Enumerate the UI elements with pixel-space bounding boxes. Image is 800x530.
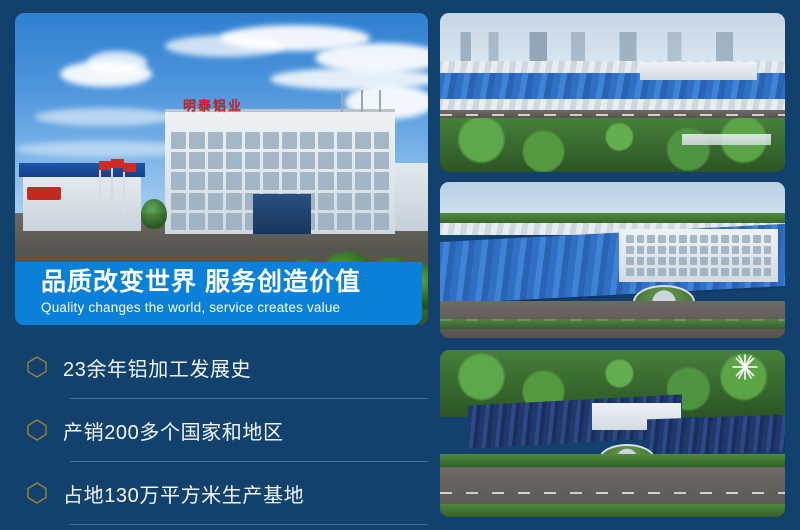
- slogan-chinese: 品质改变世界 服务创造价值: [41, 267, 422, 298]
- hexagon-icon: [27, 482, 47, 504]
- solar-roof-plant-photo: [440, 350, 785, 517]
- roof-sign-text: 明泰铝业: [183, 95, 243, 114]
- headquarters-building: 明泰铝业: [165, 109, 395, 234]
- promo-banner-page: 明泰铝业 品质改变世界 服务创造价值 Quality changes the w…: [0, 0, 800, 530]
- slogan-banner: 品质改变世界 服务创造价值 Quality changes the world,…: [15, 262, 422, 325]
- list-item-label: 23余年铝加工发展史: [63, 353, 251, 382]
- highlight-list: 23余年铝加工发展史 产销200多个国家和地区 占地130万平方米生产基地: [15, 336, 428, 525]
- list-item: 占地130万平方米生产基地: [15, 462, 428, 525]
- blue-roof-workshops-photo: [440, 182, 785, 338]
- slogan-english: Quality changes the world, service creat…: [41, 298, 422, 318]
- list-item-label: 产销200多个国家和地区: [63, 416, 284, 445]
- aerial-factory-overview-photo: [440, 13, 785, 172]
- hexagon-icon: [27, 419, 47, 441]
- list-item: 产销200多个国家和地区: [15, 399, 428, 462]
- list-item-label: 占地130万平方米生产基地: [63, 479, 304, 508]
- list-item: 23余年铝加工发展史: [15, 336, 428, 399]
- hexagon-icon: [27, 356, 47, 378]
